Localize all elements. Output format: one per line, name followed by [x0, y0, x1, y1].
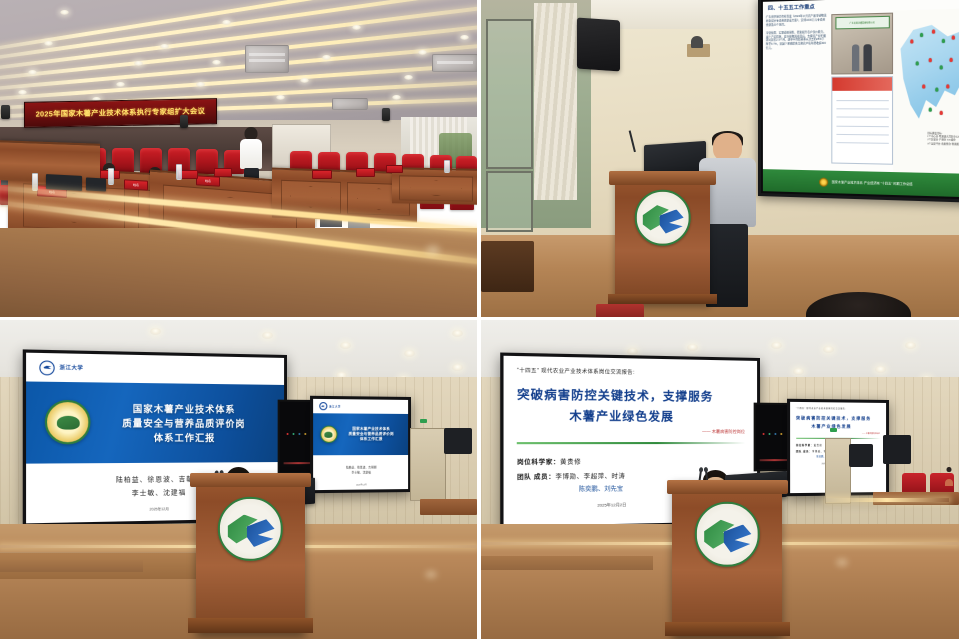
podium	[196, 473, 306, 633]
wall-speaker	[382, 108, 390, 121]
window-curtain	[534, 3, 577, 200]
name-plate	[356, 168, 375, 177]
podium	[672, 480, 782, 636]
foreground-furniture	[481, 241, 534, 292]
laptop	[46, 174, 82, 191]
horizontal-divider	[0, 317, 959, 320]
hall-floor	[0, 228, 477, 317]
stage-step	[481, 556, 653, 570]
ac-vent	[432, 54, 477, 72]
ac-vent	[245, 45, 289, 73]
slide-text-column: 广东省供销合作社签发《2024年公共农产品冷链物流补助试点专项资金建设方案》，安…	[763, 12, 830, 170]
slide-image-column: 广东农资流通集团有限公司	[830, 10, 893, 171]
name-plate	[214, 168, 232, 177]
slide-header: 浙江大学	[26, 353, 284, 385]
slide-subtitle: —— 木薯病害防控岗位	[517, 429, 745, 436]
side-door	[410, 428, 445, 500]
name-plate	[312, 170, 332, 179]
name-plate	[386, 165, 403, 173]
slide-build-goals: 目标建设目标: 1个中心仓·粤港澳大湾区中心仓 2个区域仓·产地仓 100城仓 …	[927, 132, 959, 147]
podium-presentation-scene: 四、十五五工作重点 广东省供销合作社签发《2024年公共农产品冷链物流补助试点专…	[481, 0, 959, 317]
slide-title-band: 国家木薯产业技术体系 质量安全与营养品质评价岗 体系工作汇报	[26, 382, 284, 464]
institute-emblem-icon	[634, 190, 691, 247]
side-door	[825, 438, 851, 504]
wall-speaker	[180, 115, 188, 128]
wall-speaker	[1, 105, 10, 119]
slide-title-line-1: 突破病害防控关键技术，支撑服务	[517, 386, 745, 405]
slide-kicker: “十四五” 现代农业产业技术体系岗位交流报告:	[517, 367, 745, 378]
slide-footer: 国家木薯产业技术体系·产业经济岗 "十四五" 时期工作总结	[763, 169, 959, 198]
exit-sign-icon	[420, 419, 427, 423]
stage-step	[0, 560, 143, 572]
university-name: 浙江大学	[60, 364, 84, 372]
laptop	[86, 177, 106, 191]
system-emblem-icon	[820, 177, 829, 186]
window-frame	[486, 171, 533, 232]
exit-sign-icon	[830, 428, 837, 432]
wall-monitor	[444, 428, 473, 454]
slide-bottom-left-repeat: 浙江大学 国家木薯产业技术体系 质量安全与营养品质评价岗 体系工作汇报 陆柏益、…	[313, 398, 408, 490]
led-wall-scene-right: “十四五” 现代农业产业技术体系岗位交流报告: 突破病害防控关键技术，支撑服务 …	[481, 320, 959, 639]
slide-title-line-3: 体系工作汇报	[154, 431, 216, 444]
wall-monitor	[883, 435, 912, 464]
secondary-led-screen: 浙江大学 国家木薯产业技术体系 质量安全与营养品质评价岗 体系工作汇报 陆柏益、…	[310, 395, 411, 493]
window-frame	[486, 19, 533, 169]
name-plate: 姓名	[196, 175, 220, 186]
slide-title-line-1: 国家木薯产业技术体系	[133, 402, 236, 416]
institute-emblem-icon	[695, 502, 759, 566]
team-label: 团队 成员：	[517, 475, 555, 482]
water-bottle	[176, 164, 182, 180]
slide-inline-document	[832, 76, 893, 164]
water-bottle	[108, 168, 114, 185]
system-seal-icon	[46, 400, 92, 445]
university-logo-icon	[319, 402, 327, 410]
wall-monitor	[849, 444, 873, 466]
team-line-1: 李博勋、李超萍、时涛	[555, 474, 625, 481]
slide-divider	[517, 442, 745, 444]
slide-scientist-row: 岗位科学家：黄贵修	[517, 456, 745, 466]
led-wall-scene-left: 浙江大学 国家木薯产业技术体系 质量安全与营养品质评价岗 体系工作汇报 陆柏益、…	[0, 320, 477, 639]
water-bottle	[444, 160, 450, 173]
foreground-object	[596, 304, 644, 317]
slide-inline-photo: 广东农资流通集团有限公司	[832, 12, 893, 74]
presenter-head	[713, 133, 742, 161]
presentation-screen: 四、十五五工作重点 广东省供销合作社签发《2024年公共农产品冷链物流补助试点专…	[758, 0, 959, 203]
photo-banner-text: 广东农资流通集团有限公司	[835, 16, 889, 29]
seated-attendee	[940, 467, 959, 486]
side-table	[420, 499, 477, 515]
slide-footer-text: 国家木薯产业技术体系·产业经济岗 "十四五" 时期工作总结	[832, 180, 913, 186]
scientist-label: 岗位科学家：	[517, 460, 560, 467]
university-logo-icon	[40, 360, 55, 375]
slide-title-line-2: 木薯产业绿色发展	[569, 408, 745, 425]
photo-collage: 2025年国家木薯产业技术体系执行专家组扩大会议	[0, 0, 959, 639]
panel-top-right: 四、十五五工作重点 广东省供销合作社签发《2024年公共农产品冷链物流补助试点专…	[481, 0, 959, 317]
podium	[615, 171, 711, 304]
panel-bottom-right: “十四五” 现代农业产业技术体系岗位交流报告: 突破病害防控关键技术，支撑服务 …	[481, 320, 959, 639]
wall-camera	[691, 36, 703, 47]
name-plate: 姓名	[124, 179, 148, 190]
system-seal-icon	[320, 425, 337, 442]
audience-desk	[392, 167, 477, 205]
slide-map-column: 目标建设目标: 1个中心仓·粤港澳大湾区中心仓 2个区域仓·产地仓 100城仓 …	[893, 8, 959, 173]
wall-monitor	[577, 18, 620, 72]
auditorium-scene: 2025年国家木薯产业技术体系执行专家组扩大会议	[0, 0, 477, 317]
authors-line-2: 李士敏、沈建福	[132, 486, 187, 497]
stage-light-strip	[825, 498, 949, 502]
scientist-name: 黄贵修	[560, 460, 581, 466]
slide-title-line-2: 质量安全与营养品质评价岗	[123, 416, 246, 430]
slide-paragraph-2: 冷链处理、实现错峰销售、帮助提升农户议价能力，减少产后损耗，意冷链物流项目后，支…	[766, 30, 827, 51]
slide-top-right: 四、十五五工作重点 广东省供销合作社签发《2024年公共农产品冷链物流补助试点专…	[763, 0, 959, 198]
panel-top-left: 2025年国家木薯产业技术体系执行专家组扩大会议	[0, 0, 477, 317]
ac-vent	[332, 98, 368, 110]
panel-bottom-left: 浙江大学 国家木薯产业技术体系 质量安全与营养品质评价岗 体系工作汇报 陆柏益、…	[0, 320, 477, 639]
institute-emblem-icon	[218, 497, 282, 561]
guangdong-map	[898, 22, 959, 141]
